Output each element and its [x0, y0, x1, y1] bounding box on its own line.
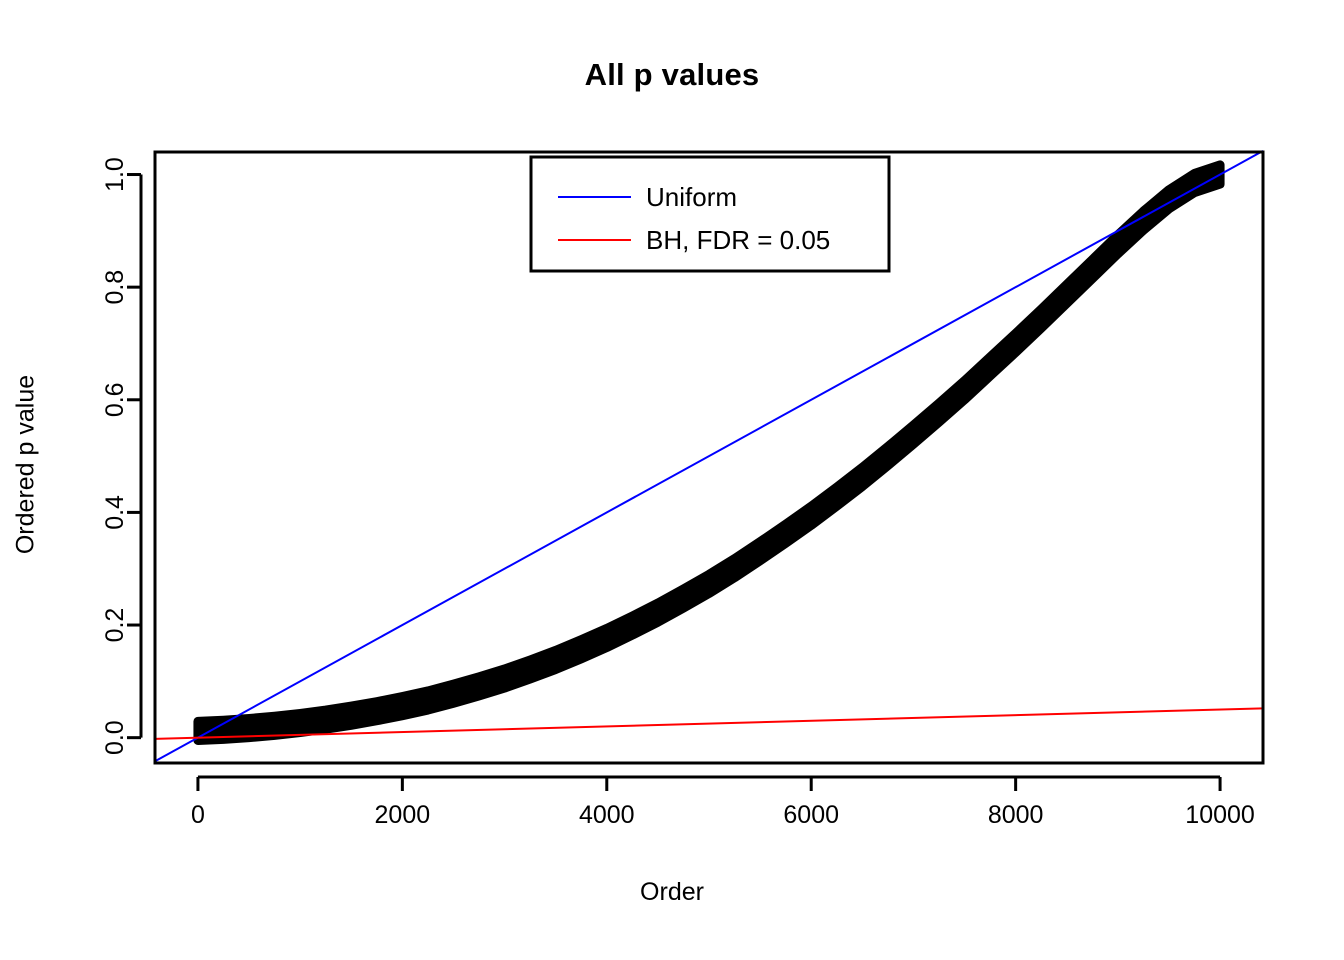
x-axis-tick-label: 4000 [579, 801, 635, 829]
x-axis-tick-label: 6000 [783, 801, 839, 829]
chart-canvas: 02000400060008000100000.00.20.40.60.81.0… [0, 0, 1344, 960]
y-axis-tick-label: 0.4 [101, 495, 129, 530]
plot-figure: All p values 02000400060008000100000.00.… [0, 0, 1344, 960]
y-axis-tick-label: 1.0 [101, 157, 129, 192]
legend-label: BH, FDR = 0.05 [646, 225, 830, 255]
y-axis-tick-label: 0.6 [101, 382, 129, 417]
y-axis-tick-label: 0.0 [101, 720, 129, 755]
y-axis-tick-label: 0.2 [101, 608, 129, 643]
legend-label: Uniform [646, 182, 737, 212]
x-axis-label: Order [0, 878, 1344, 907]
y-axis-tick-label: 0.8 [101, 270, 129, 305]
x-axis-tick-label: 8000 [988, 801, 1044, 829]
x-axis-tick-label: 0 [191, 801, 205, 829]
x-axis-tick-label: 10000 [1185, 801, 1255, 829]
x-axis-tick-label: 2000 [375, 801, 431, 829]
